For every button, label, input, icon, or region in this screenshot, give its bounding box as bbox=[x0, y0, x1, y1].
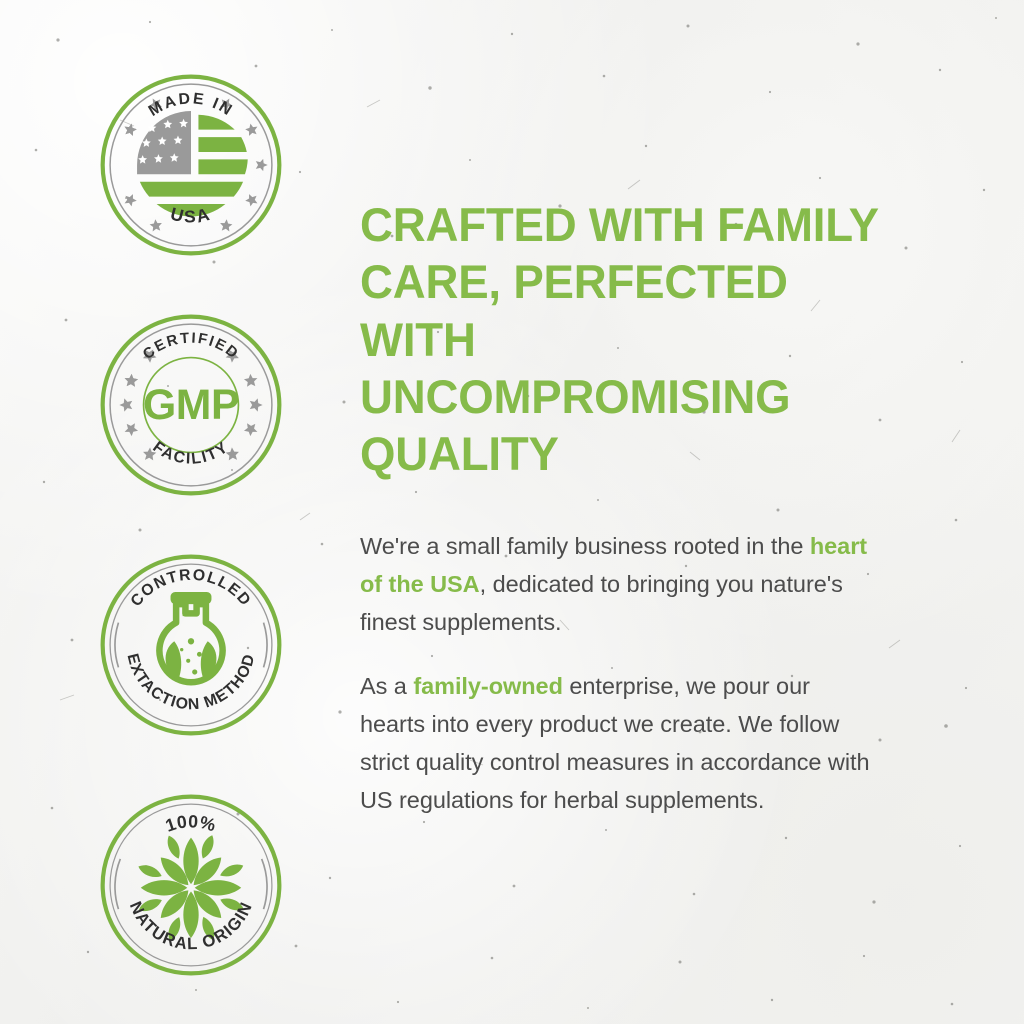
certification-badge-list: MADE IN USA bbox=[98, 72, 290, 1024]
gmp-text-icon: GMP bbox=[143, 381, 239, 429]
text-run-0: As a bbox=[360, 673, 413, 699]
flask-leaf-icon bbox=[159, 592, 222, 682]
badge-bottom-label: FACILITY bbox=[150, 438, 233, 467]
badge-bottom-label: USA bbox=[168, 203, 213, 226]
badge-right-arc bbox=[264, 623, 267, 668]
paragraph-family-business: We're a small family business rooted in … bbox=[360, 527, 880, 641]
infographic-panel: MADE IN USA bbox=[0, 0, 1024, 1024]
page-title: CRAFTED WITH FAMILY CARE, PERFECTED WITH… bbox=[360, 196, 903, 483]
badge-controlled-extraction-method: CONTROLLED EXTACTION METHOD bbox=[98, 552, 284, 738]
highlighted-phrase: family-owned bbox=[413, 673, 563, 699]
body-copy: We're a small family business rooted in … bbox=[360, 527, 920, 819]
badge-made-in-usa: MADE IN USA bbox=[98, 72, 284, 258]
badge-left-arc bbox=[115, 859, 120, 909]
badge-top-label: 100% bbox=[163, 811, 219, 836]
badge-gmp-certified-facility: GMP CERTIFIED FACILITY bbox=[98, 312, 284, 498]
badge-top-label: MADE IN bbox=[146, 90, 237, 120]
text-run-0: We're a small family business rooted in … bbox=[360, 533, 810, 559]
badge-right-arc bbox=[262, 859, 267, 909]
paragraph-family-owned: As a family-owned enterprise, we pour ou… bbox=[360, 667, 880, 819]
text-content-column: CRAFTED WITH FAMILY CARE, PERFECTED WITH… bbox=[360, 196, 920, 819]
badge-natural-origin: 100% NATURAL ORIGIN bbox=[98, 792, 284, 978]
badge-left-arc bbox=[115, 623, 118, 668]
usa-flag-circle-icon bbox=[136, 111, 248, 217]
